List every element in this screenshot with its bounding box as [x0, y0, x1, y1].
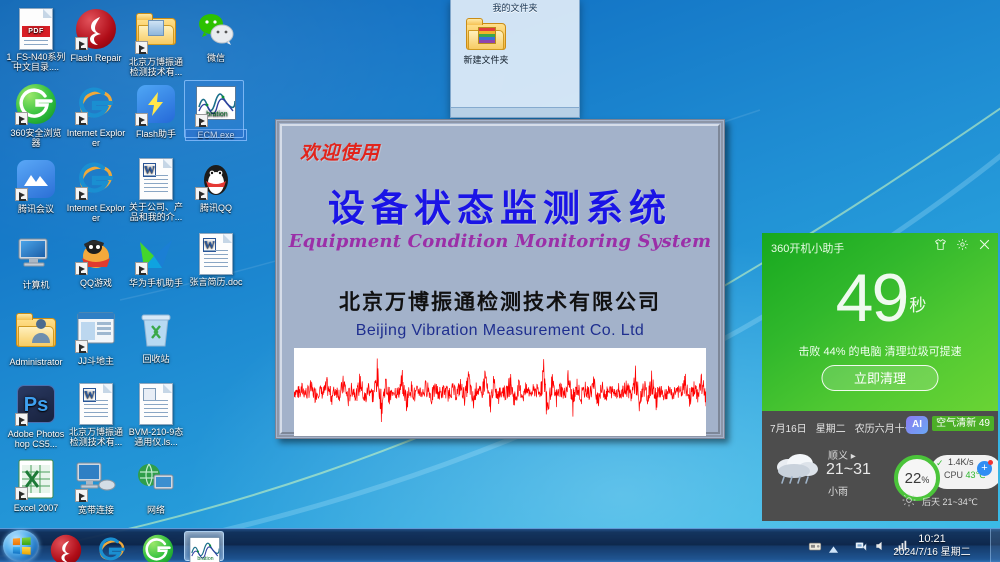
desktop-icon-label: Flash助手	[126, 129, 186, 139]
splash-company-english: Beijing Vibration Measurement Co. Ltd	[282, 322, 718, 340]
desktop-icon-jj-landlord-icon[interactable]: JJ斗地主	[66, 308, 126, 366]
weather-condition: 小雨	[828, 483, 848, 498]
huawei-hisuite-icon	[135, 234, 177, 276]
desktop-icon-label: Flash Repair	[66, 53, 126, 63]
ecm-taskbar-button[interactable]: bration	[184, 531, 224, 561]
pdf-document-icon: PDF	[15, 8, 57, 50]
boot-seconds-number: 49	[836, 260, 908, 336]
computer-icon	[15, 236, 57, 278]
desktop-icon-wechat-icon[interactable]: 微信	[186, 8, 246, 63]
cpu-usage-value: 22	[905, 470, 922, 487]
forecast-temp: 21~34℃	[943, 497, 978, 507]
desktop-icon-label: JJ斗地主	[66, 356, 126, 366]
desktop-icon-word-document-icon[interactable]: W北京万博振通检测技术有...	[66, 383, 126, 447]
desktop-icon-label: 宽带连接	[66, 505, 126, 515]
folder-icon	[466, 18, 506, 52]
word-document-icon: W	[75, 383, 117, 425]
desktop-icon-qq-penguin-icon[interactable]: 腾讯QQ	[186, 158, 246, 213]
boot-time-value: 49秒	[762, 259, 998, 345]
desktop-icon-computer-icon[interactable]: 计算机	[6, 233, 66, 290]
ecm-app-icon: bration	[195, 86, 237, 128]
360-browser-taskbar-button[interactable]	[138, 531, 178, 561]
boot-widget-title: 360开机小助手	[771, 240, 844, 256]
network-icon	[135, 461, 177, 503]
taskbar: bration	[0, 528, 1000, 562]
folder-shortcut-icon	[135, 13, 177, 55]
broadband-connection-icon	[75, 461, 117, 503]
desktop-icon-label: 微信	[186, 53, 246, 63]
desktop-icon-360-browser-icon[interactable]: 360安全浏览器	[6, 83, 66, 148]
desktop-icon-label: 张言简历.doc	[186, 277, 246, 287]
desktop-icon-label: Internet Explorer	[66, 128, 126, 148]
jj-landlord-icon	[75, 312, 117, 354]
tencent-meeting-icon	[15, 160, 57, 202]
network-speed-value: 1.4K/s	[948, 457, 974, 467]
clock[interactable]: 10:21 2024/7/16 星期二	[886, 532, 978, 560]
svg-text:bration: bration	[197, 556, 213, 562]
folder-window-status-bar	[451, 107, 579, 117]
photoshop-icon: Ps	[15, 385, 57, 427]
qq-games-icon	[75, 234, 117, 276]
expand-plus-icon[interactable]: +	[977, 461, 992, 476]
start-button[interactable]	[3, 530, 39, 562]
close-icon[interactable]	[978, 238, 991, 256]
weather-date-row: 7月16日星期二农历六月十一	[770, 420, 924, 435]
desktop-icon-label: 北京万博振通检测技术有...	[126, 57, 186, 77]
desktop-icon-label: 1_FS-N40系列中文目录....	[6, 52, 66, 72]
user-folder-icon	[15, 313, 57, 355]
boot-subtitle: 击败 44% 的电脑 清理垃圾可提速	[762, 343, 998, 359]
ecm-splash-window[interactable]: 欢迎使用 设备状态监测系统 Equipment Condition Monito…	[275, 119, 725, 439]
splash-title-english: Equipment Condition Monitoring System	[282, 231, 718, 252]
desktop-icon-label: Adobe Photoshop CS5...	[6, 429, 66, 449]
folder-window-item[interactable]: 新建文件夹	[455, 18, 517, 66]
desktop-icon-broadband-connection-icon[interactable]: 宽带连接	[66, 458, 126, 515]
desktop-icon-label: Excel 2007	[6, 503, 66, 513]
desktop-icon-qq-games-icon[interactable]: QQ游戏	[66, 233, 126, 288]
desktop-icon-label: 关于公司、产品和我的介...	[126, 202, 186, 222]
desktop-icon-label: 北京万博振通检测技术有...	[66, 427, 126, 447]
folder-window[interactable]: 我的文件夹 新建文件夹	[450, 0, 580, 118]
clean-now-button[interactable]: 立即清理	[822, 365, 939, 391]
desktop-icon-recycle-bin-icon[interactable]: 回收站	[126, 308, 186, 364]
flash-assistant-icon	[135, 85, 177, 127]
sun-icon	[902, 493, 916, 507]
ie-icon	[97, 535, 127, 562]
notification-icon[interactable]	[808, 539, 822, 553]
document-icon	[135, 383, 177, 425]
360-boot-assistant-widget[interactable]: 360开机小助手 49秒 击败 44% 的电脑 清理垃圾可提速 立即清理	[762, 233, 998, 411]
desktop-icon-user-folder-icon[interactable]: Administrator	[6, 308, 66, 367]
rain-cloud-icon	[772, 449, 822, 489]
svg-text:bration: bration	[206, 111, 228, 118]
gear-icon[interactable]	[956, 238, 969, 256]
desktop-icon-folder-shortcut-icon[interactable]: 北京万博振通检测技术有...	[126, 8, 186, 77]
desktop-icon-ecm-app-icon[interactable]: bration ECM.exe	[186, 83, 246, 140]
desktop-icon-flash-assistant-icon[interactable]: Flash助手	[126, 83, 186, 139]
360-browser-icon	[15, 84, 57, 126]
ecm-splash-inner-frame: 欢迎使用 设备状态监测系统 Equipment Condition Monito…	[280, 124, 720, 434]
desktop-icon-label: 腾讯会议	[6, 204, 66, 214]
weather-weekday: 星期二	[816, 424, 846, 435]
desktop-icon-word-document-icon[interactable]: W关于公司、产品和我的介...	[126, 158, 186, 222]
show-desktop-button[interactable]	[990, 529, 1000, 562]
cpu-label: CPU	[944, 470, 963, 480]
flash-taskbar-button[interactable]	[46, 531, 86, 561]
vibration-waveform-chart	[294, 348, 706, 436]
boot-seconds-unit: 秒	[909, 296, 924, 315]
folder-window-item-label: 新建文件夹	[455, 53, 517, 66]
desktop-icon-label: QQ游戏	[66, 278, 126, 288]
ai-badge-icon[interactable]: AI	[906, 416, 928, 434]
show-hidden-icons-icon[interactable]	[828, 541, 842, 555]
internet-explorer-icon	[75, 84, 117, 126]
desktop-icon-label: 计算机	[6, 280, 66, 290]
weather-city[interactable]: 顺义 ▸	[828, 447, 856, 462]
air-quality-badge: 空气清新 49	[932, 416, 994, 431]
desktop-icon-word-document-icon[interactable]: W张言简历.doc	[186, 233, 246, 287]
desktop-icon-label: 360安全浏览器	[6, 128, 66, 148]
weather-forecast: 后天 21~34℃	[922, 495, 978, 508]
desktop-icon-excel-icon[interactable]: Excel 2007	[6, 458, 66, 513]
desktop-icon-label: Internet Explorer	[66, 203, 126, 223]
recycle-bin-icon	[135, 310, 177, 352]
clock-date: 2024/7/16 星期二	[886, 546, 978, 560]
desktop-icon-internet-explorer-icon[interactable]: Internet Explorer	[66, 158, 126, 223]
weather-date: 7月16日	[770, 424, 807, 435]
splash-welcome-text: 欢迎使用	[300, 138, 380, 165]
network-icon[interactable]	[854, 539, 868, 553]
desktop-icon-pdf-document-icon[interactable]: PDF1_FS-N40系列中文目录....	[6, 8, 66, 72]
desktop-icon-label: 网络	[126, 505, 186, 515]
desktop-icon-document-icon[interactable]: BVM-210-9态通用仪.ls...	[126, 383, 186, 447]
internet-explorer-icon	[75, 159, 117, 201]
clock-time: 10:21	[886, 532, 978, 546]
forecast-label: 后天	[922, 497, 940, 507]
desktop-icon-photoshop-icon[interactable]: Ps Adobe Photoshop CS5...	[6, 383, 66, 449]
desktop-icon-tencent-meeting-icon[interactable]: 腾讯会议	[6, 158, 66, 214]
desktop-icon-label: 华为手机助手	[126, 278, 186, 288]
wechat-icon	[195, 9, 237, 51]
ecm-icon: bration	[190, 537, 219, 562]
weather-temperature-range: 21~31	[826, 461, 871, 479]
flash-repair-icon	[75, 9, 117, 51]
word-document-icon: W	[195, 233, 237, 275]
desktop-icon-label: 腾讯QQ	[186, 203, 246, 213]
desktop-icon-flash-repair-icon[interactable]: Flash Repair	[66, 8, 126, 63]
word-document-icon: W	[135, 158, 177, 200]
folder-window-title: 我的文件夹	[451, 0, 579, 14]
cpu-usage-unit: %	[921, 475, 929, 485]
weather-status-widget[interactable]: 7月16日星期二农历六月十一 AI 空气清新 49 顺义 ▸ 21~31 小雨 …	[762, 411, 998, 521]
flash-icon	[51, 535, 81, 562]
desktop-icon-label: BVM-210-9态通用仪.ls...	[126, 427, 186, 447]
shirt-icon[interactable]	[934, 238, 947, 256]
qq-penguin-icon	[195, 159, 237, 201]
internet-explorer-taskbar-button[interactable]	[92, 531, 132, 561]
desktop-icon-huawei-hisuite-icon[interactable]: 华为手机助手	[126, 233, 186, 288]
desktop-icon-internet-explorer-icon[interactable]: Internet Explorer	[66, 83, 126, 148]
browser360-icon	[143, 535, 173, 562]
desktop-icon-label: 回收站	[126, 354, 186, 364]
splash-title-chinese: 设备状态监测系统	[282, 178, 718, 232]
desktop-icon-label: Administrator	[6, 357, 66, 367]
splash-company-chinese: 北京万博振通检测技术有限公司	[282, 286, 718, 316]
desktop-icon-network-icon[interactable]: 网络	[126, 458, 186, 515]
excel-icon	[15, 459, 57, 501]
